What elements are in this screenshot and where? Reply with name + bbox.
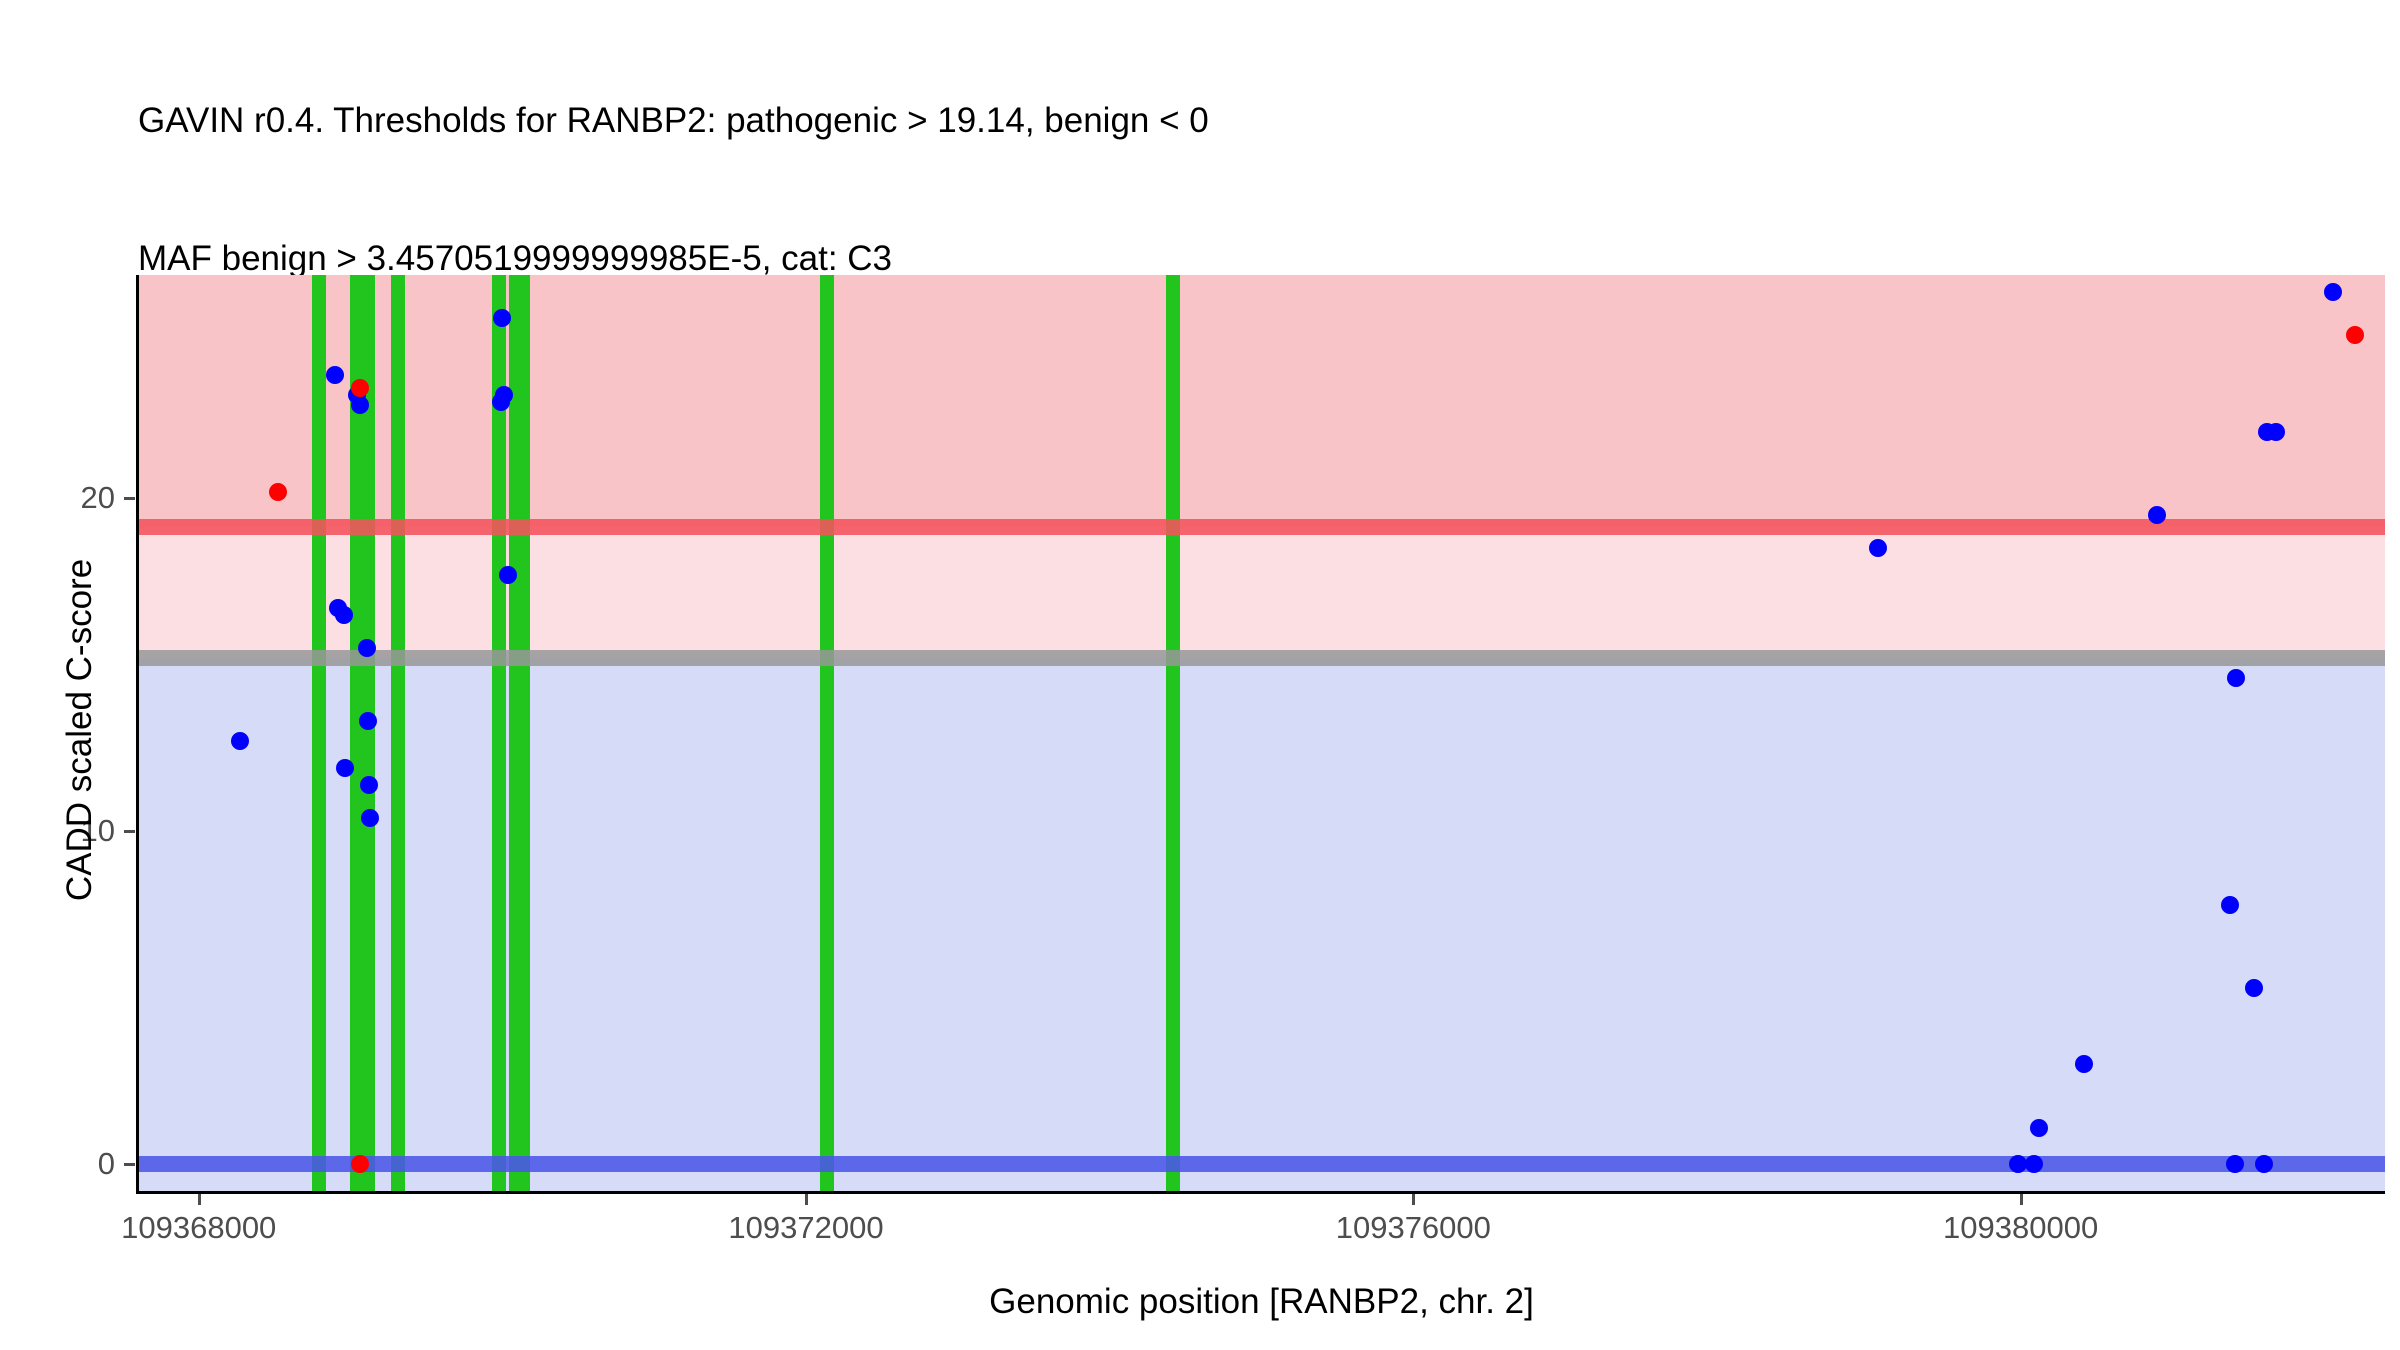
x-axis-tick-label: 109376000 xyxy=(1336,1210,1491,1246)
x-axis-tick-label: 109372000 xyxy=(728,1210,883,1246)
gnomad-variant-point xyxy=(2255,1155,2273,1173)
pathogenic-threshold-line xyxy=(138,519,2385,535)
y-axis-title: CADD scaled C-score xyxy=(60,270,100,1190)
y-axis-tick xyxy=(124,830,135,833)
x-axis-line xyxy=(136,1191,2385,1194)
clinvar-pathogenic-point xyxy=(2346,326,2364,344)
x-axis-tick-label: 109368000 xyxy=(121,1210,276,1246)
exon-marker xyxy=(1166,275,1180,1191)
gnomad-variant-point xyxy=(351,396,369,414)
benign-band xyxy=(138,658,2385,1191)
uncertain-band xyxy=(138,527,2385,658)
gnomad-variant-point xyxy=(360,776,378,794)
gnomad-variant-point xyxy=(2226,1155,2244,1173)
title-line-1: GAVIN r0.4. Thresholds for RANBP2: patho… xyxy=(138,98,2378,144)
pathogenic-band xyxy=(138,275,2385,527)
gnomad-variant-point xyxy=(2009,1155,2027,1173)
x-axis-tick xyxy=(1412,1194,1415,1205)
clinvar-pathogenic-point xyxy=(269,483,287,501)
exon-marker xyxy=(820,275,834,1191)
gnomad-variant-point xyxy=(231,732,249,750)
gnomad-variant-point xyxy=(361,809,379,827)
clinvar-pathogenic-point xyxy=(351,1155,369,1173)
x-axis-tick xyxy=(198,1194,201,1205)
y-axis-tick xyxy=(124,1163,135,1166)
exon-marker xyxy=(516,275,530,1191)
exon-marker xyxy=(312,275,326,1191)
x-axis-tick xyxy=(2020,1194,2023,1205)
x-axis-tick xyxy=(805,1194,808,1205)
plot-panel xyxy=(138,275,2385,1191)
plot-root: GAVIN r0.4. Thresholds for RANBP2: patho… xyxy=(0,0,2400,1350)
fallback-threshold-line xyxy=(138,650,2385,666)
exon-marker xyxy=(492,275,506,1191)
x-axis-tick-label: 109380000 xyxy=(1943,1210,2098,1246)
x-axis-title: Genomic position [RANBP2, chr. 2] xyxy=(138,1282,2385,1322)
gnomad-variant-point xyxy=(2221,896,2239,914)
gnomad-variant-point xyxy=(2030,1119,2048,1137)
gnomad-variant-point xyxy=(2267,423,2285,441)
exon-marker xyxy=(391,275,405,1191)
y-axis-line xyxy=(136,275,139,1193)
clinvar-pathogenic-point xyxy=(351,379,369,397)
y-axis-tick xyxy=(124,497,135,500)
benign-threshold-line xyxy=(138,1156,2385,1172)
gnomad-variant-point xyxy=(2324,283,2342,301)
gnomad-variant-point xyxy=(495,386,513,404)
gnomad-variant-point xyxy=(2148,506,2166,524)
gnomad-variant-point xyxy=(1869,539,1887,557)
